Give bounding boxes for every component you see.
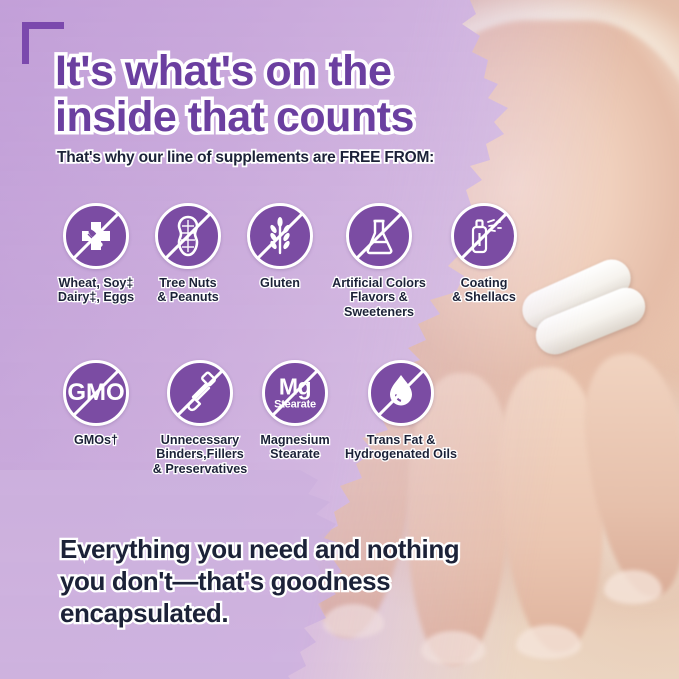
free-from-item-tree-nuts-peanuts: Tree Nuts & Peanuts (147, 203, 229, 305)
icon-caption: Unnecessary Binders,Fillers & Preservati… (150, 433, 250, 476)
icon-caption: Gluten (239, 276, 321, 290)
no-wheat-stalk-icon (247, 203, 313, 269)
free-from-item-binders-fillers: Unnecessary Binders,Fillers & Preservati… (150, 360, 250, 476)
icon-caption: Coating & Shellacs (443, 276, 525, 305)
lifestyle-infographic-image: It's what's on the inside that counts Th… (0, 0, 679, 679)
no-dropper-icon (167, 360, 233, 426)
icon-caption: Trans Fat & Hydrogenated Oils (345, 433, 457, 462)
stearate-label-text: Stearate (265, 400, 325, 411)
no-flask-icon (346, 203, 412, 269)
free-from-item-artificial-colors: Artificial Colors Flavors & Sweeteners (331, 203, 427, 319)
icon-caption: Artificial Colors Flavors & Sweeteners (331, 276, 427, 319)
icon-caption: Tree Nuts & Peanuts (147, 276, 229, 305)
free-from-item-trans-fat: Trans Fat & Hydrogenated Oils (345, 360, 457, 462)
free-from-item-wheat-soy-dairy-eggs: Wheat, Soy‡ Dairy‡, Eggs (55, 203, 137, 305)
free-from-item-gmos: GMO GMOs† (55, 360, 137, 447)
no-mg-stearate-icon: Mg Stearate (262, 360, 328, 426)
no-allergen-cross-icon (63, 203, 129, 269)
icon-caption: Wheat, Soy‡ Dairy‡, Eggs (55, 276, 137, 305)
icon-caption: GMOs† (55, 433, 137, 447)
free-from-item-coating-shellacs: Coating & Shellacs (443, 203, 525, 305)
free-from-item-magnesium-stearate: Mg Stearate Magnesium Stearate (252, 360, 338, 462)
free-from-item-gluten: Gluten (239, 203, 321, 290)
no-peanut-icon (155, 203, 221, 269)
closing-statement: Everything you need and nothing you don'… (60, 533, 460, 629)
no-gmo-icon: GMO (63, 360, 129, 426)
no-spray-can-icon (451, 203, 517, 269)
no-oil-drop-icon (368, 360, 434, 426)
icon-caption: Magnesium Stearate (252, 433, 338, 462)
